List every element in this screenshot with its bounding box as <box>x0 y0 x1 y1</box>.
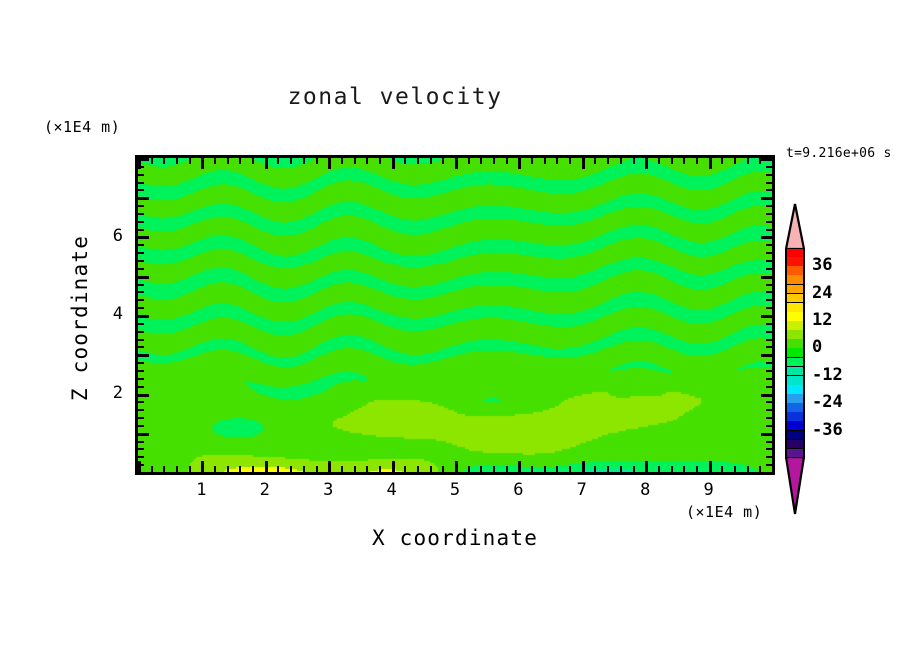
axis-tick <box>442 466 444 472</box>
y-axis-unit-label: (×1E4 m) <box>44 118 120 136</box>
axis-tick <box>252 466 254 472</box>
colorbar-under-arrow <box>785 457 805 515</box>
axis-tick <box>766 441 772 443</box>
axis-tick <box>761 433 772 436</box>
axis-tick <box>607 466 609 472</box>
axis-tick <box>766 299 772 301</box>
axis-tick <box>766 244 772 246</box>
axis-tick <box>201 158 204 169</box>
axis-tick <box>341 158 343 164</box>
axis-tick <box>366 466 368 472</box>
axis-tick <box>766 370 772 372</box>
axis-tick <box>201 461 204 472</box>
axis-tick <box>556 158 558 164</box>
axis-tick <box>189 466 191 472</box>
colorbar-over-arrow <box>785 203 805 249</box>
axis-tick <box>766 425 772 427</box>
axis-tick <box>709 158 712 169</box>
axis-tick <box>766 401 772 403</box>
axis-tick <box>316 158 318 164</box>
axis-tick <box>607 158 609 164</box>
axis-tick <box>138 323 144 325</box>
axis-tick <box>138 386 144 388</box>
colorbar-tick-label: -36 <box>812 420 843 440</box>
axis-tick <box>544 158 546 164</box>
y-tick-label: 2 <box>83 383 123 403</box>
axis-tick <box>506 158 508 164</box>
axis-tick <box>766 260 772 262</box>
axis-tick <box>163 158 165 164</box>
axis-tick <box>138 394 149 397</box>
axis-tick <box>766 268 772 270</box>
axis-tick <box>354 158 356 164</box>
axis-tick <box>138 213 144 215</box>
axis-tick <box>138 205 144 207</box>
axis-tick <box>328 461 331 472</box>
axis-tick <box>316 466 318 472</box>
axis-tick <box>544 466 546 472</box>
axis-tick <box>766 213 772 215</box>
axis-tick <box>506 466 508 472</box>
axis-tick <box>766 339 772 341</box>
axis-tick <box>772 461 775 472</box>
axis-tick <box>766 221 772 223</box>
axis-tick <box>138 362 144 364</box>
axis-tick <box>442 158 444 164</box>
axis-tick <box>518 461 521 472</box>
axis-tick <box>138 401 144 403</box>
x-tick-label: 5 <box>435 480 475 500</box>
axis-tick <box>594 466 596 472</box>
axis-tick <box>163 466 165 472</box>
colorbar-arrow-shape <box>785 457 805 515</box>
axis-tick <box>658 158 660 164</box>
axis-tick <box>721 466 723 472</box>
axis-tick <box>138 354 149 357</box>
axis-tick <box>671 158 673 164</box>
y-tick-label: 4 <box>83 304 123 324</box>
axis-tick <box>252 158 254 164</box>
axis-tick <box>138 260 144 262</box>
axis-tick <box>766 229 772 231</box>
axis-tick <box>766 174 772 176</box>
axis-tick <box>766 205 772 207</box>
axis-tick <box>766 456 772 458</box>
axis-tick <box>766 448 772 450</box>
axis-tick <box>683 158 685 164</box>
axis-tick <box>721 158 723 164</box>
contour-plot-figure: zonal velocity (×1E4 m) (×1E4 m) X coord… <box>0 0 904 654</box>
axis-tick <box>176 466 178 472</box>
axis-tick <box>138 299 144 301</box>
axis-tick <box>468 158 470 164</box>
axis-tick <box>468 466 470 472</box>
axis-tick <box>430 466 432 472</box>
axis-tick <box>239 158 241 164</box>
axis-tick <box>138 174 144 176</box>
axis-tick <box>214 466 216 472</box>
axis-tick <box>214 158 216 164</box>
axis-tick <box>138 284 144 286</box>
axis-tick <box>138 221 144 223</box>
axis-tick <box>138 417 144 419</box>
x-tick-label: 2 <box>245 480 285 500</box>
colorbar-tick-label: 36 <box>812 255 832 275</box>
axis-tick <box>138 315 149 318</box>
axis-tick <box>277 466 279 472</box>
axis-tick <box>303 466 305 472</box>
axis-tick <box>138 425 144 427</box>
axis-tick <box>761 394 772 397</box>
axis-tick <box>138 189 144 191</box>
axis-tick <box>138 268 144 270</box>
axis-tick <box>138 339 144 341</box>
axis-tick <box>138 441 144 443</box>
axis-tick <box>138 378 144 380</box>
axis-tick <box>480 466 482 472</box>
axis-tick <box>761 472 772 475</box>
axis-tick <box>138 464 144 466</box>
axis-tick <box>138 409 144 411</box>
axis-tick <box>766 417 772 419</box>
axis-tick <box>138 346 144 348</box>
page-title: zonal velocity <box>0 84 790 110</box>
axis-tick <box>138 472 149 475</box>
axis-tick <box>761 315 772 318</box>
colorbar-tick-label: 24 <box>812 283 832 303</box>
axis-tick <box>303 158 305 164</box>
axis-tick <box>531 158 533 164</box>
axis-tick <box>747 466 749 472</box>
axis-tick <box>138 244 144 246</box>
axis-tick <box>493 158 495 164</box>
x-axis-unit-label: (×1E4 m) <box>686 503 762 521</box>
axis-tick <box>766 284 772 286</box>
axis-tick <box>379 158 381 164</box>
axis-tick <box>766 291 772 293</box>
axis-tick <box>766 307 772 309</box>
axis-tick <box>189 158 191 164</box>
axis-tick <box>138 331 144 333</box>
x-tick-label: 4 <box>372 480 412 500</box>
axis-tick <box>138 182 144 184</box>
axis-tick <box>766 386 772 388</box>
axis-tick <box>696 466 698 472</box>
x-tick-label: 1 <box>181 480 221 500</box>
axis-tick <box>772 158 775 169</box>
x-tick-label: 3 <box>308 480 348 500</box>
axis-tick <box>455 461 458 472</box>
axis-tick <box>734 466 736 472</box>
axis-tick <box>766 331 772 333</box>
axis-tick <box>138 252 144 254</box>
axis-tick <box>766 182 772 184</box>
axis-tick <box>227 158 229 164</box>
axis-tick <box>761 197 772 200</box>
axis-tick <box>417 158 419 164</box>
axis-tick <box>354 466 356 472</box>
axis-tick <box>227 466 229 472</box>
axis-tick <box>138 307 144 309</box>
colorbar-arrow-shape <box>785 203 805 249</box>
axis-tick <box>493 466 495 472</box>
axis-tick <box>417 466 419 472</box>
x-tick-label: 7 <box>562 480 602 500</box>
x-tick-label: 6 <box>498 480 538 500</box>
axis-tick <box>531 466 533 472</box>
axis-tick <box>594 158 596 164</box>
axis-tick <box>290 158 292 164</box>
axis-tick <box>341 466 343 472</box>
axis-tick <box>766 323 772 325</box>
contour-field <box>138 158 772 472</box>
axis-tick <box>766 409 772 411</box>
axis-tick <box>265 461 268 472</box>
axis-tick <box>696 158 698 164</box>
axis-tick <box>379 466 381 472</box>
colorbar-tick-label: -24 <box>812 392 843 412</box>
axis-tick <box>633 466 635 472</box>
axis-tick <box>556 466 558 472</box>
axis-tick <box>766 378 772 380</box>
axis-tick <box>138 197 149 200</box>
axis-tick <box>671 466 673 472</box>
time-annotation: t=9.216e+06 s <box>786 146 892 161</box>
axis-tick <box>645 461 648 472</box>
axis-tick <box>138 229 144 231</box>
axis-tick <box>138 461 141 472</box>
axis-tick <box>138 166 144 168</box>
axis-tick <box>265 158 268 169</box>
axis-tick <box>633 158 635 164</box>
axis-tick <box>138 236 149 239</box>
x-tick-label: 9 <box>689 480 729 500</box>
axis-tick <box>761 158 772 161</box>
axis-tick <box>761 236 772 239</box>
axis-tick <box>392 461 395 472</box>
colorbar <box>785 248 805 458</box>
axis-tick <box>761 276 772 279</box>
axis-tick <box>277 158 279 164</box>
axis-tick <box>766 362 772 364</box>
axis-tick <box>138 276 149 279</box>
axis-tick <box>683 466 685 472</box>
colorbar-tick-label: 12 <box>812 310 832 330</box>
y-tick-label: 6 <box>83 226 123 246</box>
axis-tick <box>582 158 585 169</box>
axis-tick <box>366 158 368 164</box>
axis-tick <box>761 354 772 357</box>
axis-tick <box>138 433 149 436</box>
plot-area <box>135 155 775 475</box>
colorbar-tick-label: -12 <box>812 365 843 385</box>
axis-tick <box>766 464 772 466</box>
axis-tick <box>239 466 241 472</box>
axis-tick <box>138 291 144 293</box>
axis-tick <box>480 158 482 164</box>
axis-tick <box>766 189 772 191</box>
axis-tick <box>455 158 458 169</box>
axis-tick <box>430 158 432 164</box>
axis-tick <box>518 158 521 169</box>
axis-tick <box>645 158 648 169</box>
axis-tick <box>290 466 292 472</box>
axis-tick <box>138 456 144 458</box>
axis-tick <box>151 466 153 472</box>
axis-tick <box>404 158 406 164</box>
axis-tick <box>620 466 622 472</box>
axis-tick <box>709 461 712 472</box>
axis-tick <box>747 158 749 164</box>
axis-tick <box>392 158 395 169</box>
axis-tick <box>138 370 144 372</box>
axis-tick <box>582 461 585 472</box>
axis-tick <box>658 466 660 472</box>
axis-tick <box>766 346 772 348</box>
axis-tick <box>138 158 149 161</box>
axis-tick <box>176 158 178 164</box>
axis-tick <box>620 158 622 164</box>
axis-tick <box>766 166 772 168</box>
axis-tick <box>569 158 571 164</box>
axis-tick <box>404 466 406 472</box>
axis-tick <box>328 158 331 169</box>
axis-tick <box>151 158 153 164</box>
x-axis-title: X coordinate <box>135 526 775 550</box>
axis-tick <box>569 466 571 472</box>
colorbar-tick-label: 0 <box>812 337 822 357</box>
axis-tick <box>138 448 144 450</box>
axis-tick <box>734 158 736 164</box>
x-tick-label: 8 <box>625 480 665 500</box>
axis-tick <box>766 252 772 254</box>
